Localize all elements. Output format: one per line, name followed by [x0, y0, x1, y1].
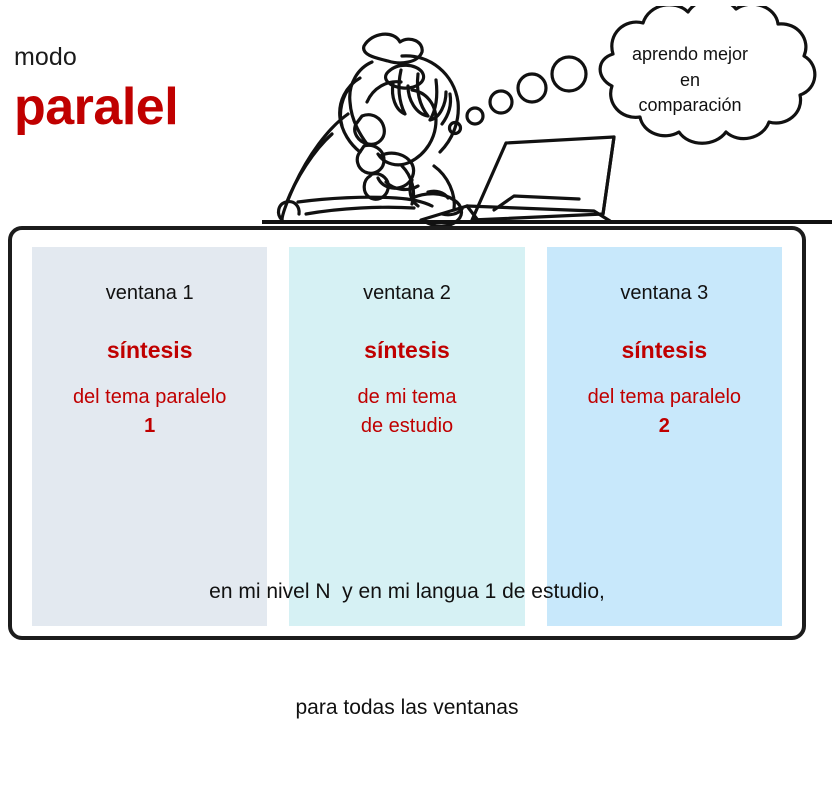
- parallel-mode-panel: ventana 1 síntesis del tema paralelo 1 v…: [8, 226, 806, 640]
- synthesis-label-2: síntesis: [289, 337, 524, 365]
- window-label-3: ventana 3: [547, 281, 782, 305]
- description-2: de mi tema de estudio: [289, 383, 524, 441]
- laptop: [421, 137, 614, 221]
- window-label-2: ventana 2: [289, 281, 524, 305]
- thought-dots: [450, 57, 587, 134]
- description-number-3: 2: [659, 415, 670, 437]
- caption-line-1: en mi nivel N y en mi langua 1 de estudi…: [32, 573, 782, 612]
- description-text-1: del tema paralelo: [73, 386, 226, 408]
- description-3: del tema paralelo 2: [547, 383, 782, 441]
- thought-cloud-text: aprendo mejor en comparación: [592, 42, 788, 119]
- description-text-3: del tema paralelo: [588, 386, 741, 408]
- synthesis-label-3: síntesis: [547, 337, 782, 365]
- page-title: modo paralel: [14, 44, 274, 134]
- description-number-1: 1: [144, 415, 155, 437]
- synthesis-label-1: síntesis: [32, 337, 267, 365]
- description-1: del tema paralelo 1: [32, 383, 267, 441]
- panel-caption: en mi nivel N y en mi langua 1 de estudi…: [32, 495, 782, 806]
- title-main: paralel: [14, 80, 274, 135]
- title-kicker: modo: [14, 44, 274, 72]
- description-text-2b: de estudio: [361, 415, 453, 437]
- cloud-text-line-2: en: [592, 68, 788, 94]
- cloud-text-line-1: aprendo mejor: [592, 42, 788, 68]
- head-and-hair: [350, 56, 459, 165]
- caption-line-2: para todas las ventanas: [32, 689, 782, 728]
- cloud-text-line-3: comparación: [592, 93, 788, 119]
- description-text-2a: de mi tema: [358, 386, 457, 408]
- window-label-1: ventana 1: [32, 281, 267, 305]
